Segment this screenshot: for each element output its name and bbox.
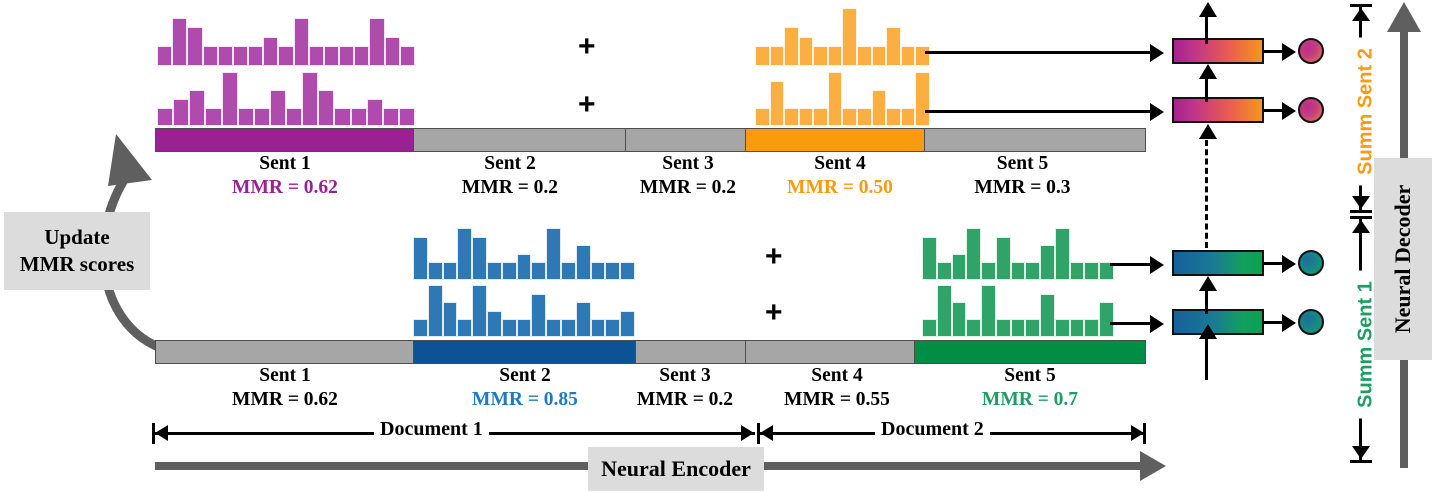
caption-top-sent4: Sent 4 MMR = 0.50 [740, 152, 940, 200]
histogram-bar [270, 90, 286, 126]
neural-encoder-label: Neural Encoder [601, 456, 751, 482]
histogram-bar [915, 72, 930, 126]
histogram-bar [502, 262, 517, 280]
histogram-bar [254, 108, 270, 126]
histogram-bar [937, 262, 952, 280]
histogram-bar [857, 108, 872, 126]
histogram-bar [383, 108, 399, 126]
histogram-bar [1025, 262, 1040, 280]
histogram-bar [1011, 262, 1026, 280]
caption-bottom-sent4-mmr: MMR = 0.55 [742, 388, 932, 412]
summ-sent-2-arrow-up [1352, 8, 1370, 21]
histogram-bar [576, 302, 591, 337]
caption-top-sent4-label: Sent 4 [814, 153, 865, 174]
histogram-sent2-a [413, 228, 635, 280]
histogram-bar [248, 46, 263, 66]
document-1-span: Document 1 [152, 422, 757, 444]
caption-top-sent1-label: Sent 1 [259, 153, 310, 174]
histogram-bar [203, 46, 218, 66]
decoder-cell-summ1-b[interactable] [1172, 250, 1264, 276]
histogram-bar [157, 46, 172, 66]
histogram-bar [487, 262, 502, 280]
histogram-bar [173, 99, 189, 126]
histogram-bar [1011, 319, 1026, 337]
document-2-arrow-left [760, 425, 773, 441]
caption-bottom-sent2: Sent 2 MMR = 0.85 [430, 364, 620, 412]
histogram-bar [443, 262, 458, 280]
caption-bottom-sent5-label: Sent 5 [1004, 365, 1055, 386]
summ-sent-2-cap-bottom [1350, 210, 1372, 213]
histogram-bar [369, 18, 384, 66]
caption-bottom-sent1: Sent 1 MMR = 0.62 [185, 364, 385, 412]
document-bar-bottom [155, 340, 1147, 364]
histogram-bar [952, 254, 967, 280]
histogram-bar [952, 302, 967, 337]
plus-sign-bottom-2: + [765, 298, 783, 328]
histogram-bar [222, 72, 238, 126]
update-box-line2: MMR scores [20, 251, 135, 278]
decoder-cell-summ1-a[interactable] [1172, 309, 1264, 335]
histogram-bar [842, 8, 857, 66]
histogram-bar [755, 46, 770, 66]
summ-sent-2-arrow-down [1352, 196, 1370, 209]
segment-top-sent4[interactable] [745, 128, 925, 152]
histogram-bar [886, 108, 901, 126]
diagram-canvas: Update MMR scores + + Sent 1 MMR = 0.62 … [0, 0, 1436, 493]
histogram-bar [318, 90, 334, 126]
caption-bottom-sent1-label: Sent 1 [259, 365, 310, 386]
histogram-bar [842, 108, 857, 126]
caption-top-sent2-label: Sent 2 [484, 153, 535, 174]
document-1-label: Document 1 [374, 418, 489, 441]
histogram-sent1-a [157, 8, 415, 66]
histogram-bar [546, 319, 561, 337]
segment-bottom-sent3[interactable] [635, 340, 747, 364]
document-bar-top [155, 128, 1147, 152]
histogram-bar [1055, 319, 1070, 337]
output-token-summ1-b [1298, 250, 1324, 276]
histogram-bar [922, 237, 937, 280]
caption-top-sent4-mmr: MMR = 0.50 [740, 176, 940, 200]
caption-top-sent5-mmr: MMR = 0.3 [930, 176, 1115, 200]
histogram-sent4-b [755, 72, 930, 126]
document-2-label: Document 2 [875, 418, 990, 441]
histogram-bar [286, 108, 302, 126]
caption-bottom-sent4-label: Sent 4 [811, 365, 862, 386]
histogram-bar [238, 108, 254, 126]
output-arrow-summ2-b [1282, 43, 1296, 61]
decoder-flow-line-4 [1205, 336, 1208, 380]
histogram-bar [620, 262, 635, 280]
caption-bottom-sent3-label: Sent 3 [659, 365, 710, 386]
decoder-flow-arrow-2 [1199, 64, 1217, 79]
segment-top-sent2[interactable] [413, 128, 626, 152]
update-box-line1: Update [44, 224, 109, 251]
histogram-bar [966, 319, 981, 337]
histogram-bar [428, 262, 443, 280]
segment-bottom-sent2[interactable] [413, 340, 636, 364]
decoder-flow-arrow-3 [1199, 276, 1217, 291]
histogram-bar [1070, 262, 1085, 280]
histogram-bar [784, 27, 799, 66]
histogram-bar [400, 46, 415, 66]
caption-top-sent2-mmr: MMR = 0.2 [420, 176, 600, 200]
connector-line-top-1 [925, 51, 1153, 54]
histogram-sent4-a [755, 8, 930, 66]
histogram-bar [339, 46, 354, 66]
output-token-summ2-b [1298, 38, 1324, 64]
decoder-flow-arrow-4 [1199, 324, 1217, 339]
histogram-bar [784, 108, 799, 126]
segment-top-sent1[interactable] [155, 128, 415, 152]
histogram-bar [857, 46, 872, 66]
neural-encoder-arrow [1140, 451, 1166, 481]
histogram-bar [546, 228, 561, 280]
histogram-bar [576, 245, 591, 280]
histogram-bar [886, 27, 901, 66]
histogram-bar [233, 46, 248, 66]
histogram-bar [1084, 319, 1099, 337]
histogram-bar [591, 319, 606, 337]
plus-sign-top-1: + [578, 32, 596, 62]
histogram-bar [1040, 294, 1055, 337]
neural-encoder-box[interactable]: Neural Encoder [588, 447, 764, 491]
histogram-bar [457, 319, 472, 337]
histogram-bar [399, 108, 415, 126]
histogram-bar [561, 262, 576, 280]
histogram-bar [354, 46, 369, 66]
histogram-bar [172, 18, 187, 66]
histogram-bar [487, 311, 502, 337]
summ-sent-1-arrow-down [1352, 446, 1370, 459]
segment-bottom-sent5[interactable] [914, 340, 1146, 364]
histogram-bar [981, 262, 996, 280]
decoder-flow-line-3 [1205, 288, 1208, 314]
histogram-bar [872, 90, 887, 126]
document-1-arrow-right [741, 425, 754, 441]
update-mmr-scores-box[interactable]: Update MMR scores [4, 212, 150, 290]
output-arrow-summ1-b [1282, 255, 1296, 273]
histogram-bar [278, 46, 293, 66]
histogram-bar [413, 237, 428, 280]
histogram-bar [385, 37, 400, 66]
histogram-bar [428, 285, 443, 337]
segment-bottom-sent4[interactable] [745, 340, 915, 364]
plus-sign-bottom-1: + [765, 242, 783, 272]
connector-line-top-2 [925, 110, 1153, 113]
document-1-arrow-left [155, 425, 168, 441]
decoder-flow-arrow-1 [1199, 2, 1217, 17]
decoder-cell-summ2-a[interactable] [1172, 97, 1264, 123]
histogram-bar [813, 108, 828, 126]
segment-top-sent3[interactable] [625, 128, 747, 152]
connector-arrow-top-2 [1150, 103, 1164, 121]
caption-bottom-sent2-mmr: MMR = 0.85 [430, 388, 620, 412]
histogram-bar [157, 108, 173, 126]
segment-bottom-sent1[interactable] [155, 340, 415, 364]
histogram-bar [872, 46, 887, 66]
histogram-bar [996, 319, 1011, 337]
histogram-bar [605, 262, 620, 280]
histogram-bar [1084, 262, 1099, 280]
histogram-bar [770, 46, 785, 66]
segment-top-sent5[interactable] [924, 128, 1146, 152]
caption-bottom-sent4: Sent 4 MMR = 0.55 [742, 364, 932, 412]
decoder-flow-arrow-dashed [1199, 124, 1217, 139]
caption-bottom-sent5: Sent 5 MMR = 0.7 [935, 364, 1125, 412]
histogram-bar [189, 90, 205, 126]
histogram-bar [443, 302, 458, 337]
histogram-bar [502, 319, 517, 337]
histogram-bar [981, 285, 996, 337]
histogram-bar [828, 46, 843, 66]
connector-arrow-bottom-1 [1150, 256, 1164, 274]
histogram-bar [996, 237, 1011, 280]
histogram-bar [966, 228, 981, 280]
caption-top-sent5-label: Sent 5 [997, 153, 1048, 174]
histogram-bar [755, 108, 770, 126]
histogram-bar [472, 237, 487, 280]
histogram-bar [413, 319, 428, 337]
histogram-bar [901, 108, 916, 126]
histogram-bar [472, 285, 487, 337]
histogram-bar [799, 108, 814, 126]
histogram-bar [218, 46, 233, 66]
histogram-bar [1040, 245, 1055, 280]
histogram-bar [813, 46, 828, 66]
caption-bottom-sent1-mmr: MMR = 0.62 [185, 388, 385, 412]
output-arrow-summ1-a [1282, 314, 1296, 332]
histogram-bar [263, 37, 278, 66]
histogram-bar [561, 319, 576, 337]
document-2-cap-right [1143, 423, 1146, 444]
histogram-bar [922, 319, 937, 337]
connector-arrow-bottom-2 [1150, 315, 1164, 333]
histogram-bar [1055, 228, 1070, 280]
decoder-flow-line-dashed [1205, 140, 1208, 248]
histogram-bar [457, 228, 472, 280]
histogram-sent5-b [922, 285, 1114, 337]
histogram-bar [531, 262, 546, 280]
caption-top-sent3-label: Sent 3 [662, 153, 713, 174]
histogram-bar [915, 46, 930, 66]
caption-top-sent2: Sent 2 MMR = 0.2 [420, 152, 600, 200]
histogram-bar [324, 46, 339, 66]
histogram-bar [1099, 302, 1114, 337]
connector-arrow-top-1 [1150, 44, 1164, 62]
histogram-bar [309, 46, 324, 66]
histogram-bar [605, 319, 620, 337]
histogram-bar [187, 27, 202, 66]
histogram-bar [1025, 319, 1040, 337]
output-arrow-summ2-a [1282, 102, 1296, 120]
histogram-sent1-b [157, 72, 415, 126]
histogram-bar [294, 18, 309, 66]
caption-bottom-sent2-label: Sent 2 [499, 365, 550, 386]
histogram-sent5-a [922, 228, 1114, 280]
plus-sign-top-2: + [578, 90, 596, 120]
histogram-bar [828, 72, 843, 126]
decoder-flow-line-2 [1205, 76, 1208, 102]
histogram-bar [334, 108, 350, 126]
histogram-bar [351, 108, 367, 126]
histogram-bar [591, 262, 606, 280]
histogram-bar [937, 285, 952, 337]
histogram-bar [531, 294, 546, 337]
neural-decoder-arrow [1387, 2, 1421, 32]
summ-sent-1-cap-bottom [1350, 460, 1372, 463]
histogram-bar [1070, 319, 1085, 337]
caption-bottom-sent5-mmr: MMR = 0.7 [935, 388, 1125, 412]
neural-decoder-label: Neural Decoder [1390, 185, 1416, 333]
histogram-bar [517, 319, 532, 337]
histogram-bar [302, 72, 318, 126]
histogram-bar [620, 311, 635, 337]
histogram-sent2-b [413, 285, 635, 337]
histogram-bar [517, 254, 532, 280]
caption-top-sent1: Sent 1 MMR = 0.62 [185, 152, 385, 200]
caption-top-sent1-mmr: MMR = 0.62 [185, 176, 385, 200]
histogram-bar [770, 81, 785, 126]
decoder-cell-summ2-b[interactable] [1172, 38, 1264, 64]
histogram-bar [367, 99, 383, 126]
document-2-span: Document 2 [757, 422, 1147, 444]
histogram-bar [901, 46, 916, 66]
summ-sent-1-arrow-up [1352, 220, 1370, 233]
histogram-bar [799, 37, 814, 66]
caption-top-sent5: Sent 5 MMR = 0.3 [930, 152, 1115, 200]
neural-decoder-box[interactable]: Neural Decoder [1374, 158, 1432, 360]
histogram-bar [205, 108, 221, 126]
output-token-summ1-a [1298, 309, 1324, 335]
output-token-summ2-a [1298, 97, 1324, 123]
